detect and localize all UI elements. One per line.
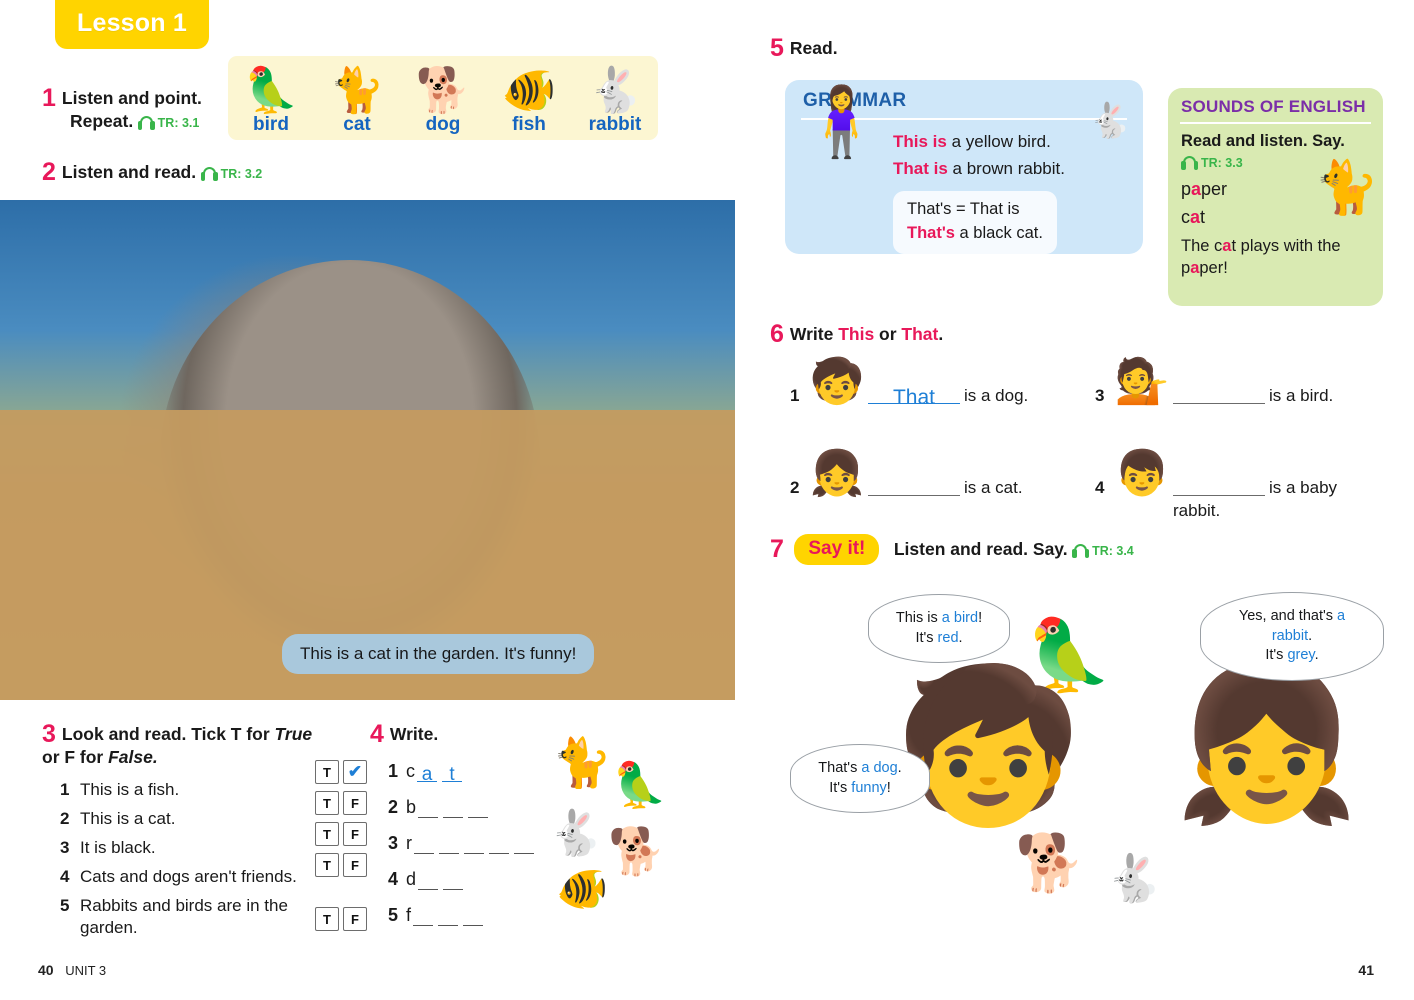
contraction-panel: That's = That is That's a black cat.	[893, 191, 1057, 254]
question-text: Cats and dogs aren't friends.	[80, 866, 297, 888]
audio-track-tag-2[interactable]: TR: 3.2	[201, 167, 263, 181]
answer-blank[interactable]: t	[442, 764, 462, 782]
vocab-word: fish	[512, 114, 546, 136]
vocab-word: rabbit	[589, 114, 642, 136]
answer-blank[interactable]	[1173, 476, 1265, 496]
unit-label: UNIT 3	[65, 963, 106, 978]
answer-blank[interactable]: a	[417, 764, 437, 782]
page-number: 40	[38, 962, 54, 978]
grey-rabbit-icon: 🐇	[1105, 855, 1162, 901]
vocab-word: dog	[426, 114, 461, 136]
audio-track-tag-3[interactable]: TR: 3.3	[1181, 156, 1243, 170]
photo-caption-bubble: This is a cat in the garden. It's funny!	[282, 634, 594, 674]
list-item[interactable]: 2 b	[388, 797, 560, 818]
grammar-body: This is a yellow bird. That is a brown r…	[785, 130, 1143, 254]
track-label: TR: 3.2	[221, 167, 263, 181]
exercise-3: 3Look and read. Tick T for True or F for…	[42, 722, 322, 946]
exercise-3-heading: Look and read. Tick T for True or F for …	[42, 724, 312, 767]
sounds-subtitle: Read and listen. Say.	[1168, 132, 1383, 151]
word-start-letter: f	[406, 905, 411, 926]
false-checkbox[interactable]: ✔	[343, 760, 367, 784]
false-checkbox[interactable]: F	[343, 791, 367, 815]
exercise-4-heading: Write.	[390, 724, 438, 744]
tf-row: T F	[315, 907, 367, 931]
vocab-word: bird	[253, 114, 289, 136]
boy-pointing-dog-icon: 🧒	[806, 360, 868, 404]
track-label: TR: 3.1	[158, 116, 200, 130]
girl-pointing-bird-icon: 💁	[1111, 360, 1173, 404]
list-item: 2This is a cat.	[60, 808, 322, 830]
cat-icon: 🐈	[330, 55, 385, 113]
exercise-7-heading-row: 7 Say it! Listen and read. Say. TR: 3.4	[770, 534, 1134, 565]
true-checkbox[interactable]: T	[315, 791, 339, 815]
cat-icon: 🐈	[552, 740, 612, 788]
dog-icon: 🐕	[416, 55, 471, 113]
sounds-sentence: The cat plays with the paper!	[1168, 235, 1359, 280]
grammar-line-1: This is a yellow bird.	[893, 130, 1085, 155]
vocab-item[interactable]: 🐇 rabbit	[575, 55, 655, 140]
exercise-6-item-4: 4 👦 is a baby rabbit.	[1095, 452, 1350, 523]
answer-blank[interactable]	[439, 836, 459, 854]
exercise-6-number: 6	[770, 322, 784, 347]
vocab-item[interactable]: 🐈 cat	[317, 55, 397, 140]
vocabulary-strip: 🦜 bird 🐈 cat 🐕 dog 🐠 fish 🐇 rabbit	[228, 56, 658, 140]
answer-blank[interactable]: That	[868, 384, 960, 404]
exercise-2-heading: Listen and read.	[62, 162, 196, 182]
parrot-icon: 🦜	[244, 55, 299, 113]
true-checkbox[interactable]: T	[315, 822, 339, 846]
true-checkbox[interactable]: T	[315, 907, 339, 931]
answer-blank[interactable]	[418, 800, 438, 818]
sounds-of-english-box: SOUNDS OF ENGLISH Read and listen. Say. …	[1168, 88, 1383, 306]
footer-left: 40 UNIT 3	[38, 962, 106, 978]
grammar-box: GRAMMAR 🧍‍♀️ 🐇 This is a yellow bird. Th…	[785, 80, 1143, 254]
headphones-icon	[1181, 156, 1198, 170]
list-item[interactable]: 3 r	[388, 833, 560, 854]
word-start-letter: b	[406, 797, 416, 818]
vocab-item[interactable]: 🦜 bird	[231, 55, 311, 140]
question-text: This is a cat.	[80, 808, 175, 830]
kitten-photo	[0, 200, 735, 700]
audio-track-tag-4[interactable]: TR: 3.4	[1072, 544, 1134, 558]
answer-blank[interactable]	[438, 908, 458, 926]
question-text: Rabbits and birds are in the garden.	[80, 895, 295, 939]
list-item[interactable]: 5 f	[388, 905, 560, 926]
answer-blank[interactable]	[464, 836, 484, 854]
lesson-badge: Lesson 1	[55, 0, 209, 49]
word-start-letter: r	[406, 833, 412, 854]
girl-holding-cat-icon: 👧	[806, 452, 868, 496]
contraction-rule: That's = That is	[907, 198, 1043, 222]
headphones-icon	[138, 116, 155, 130]
list-item[interactable]: 1 c a t	[388, 761, 560, 782]
rabbit-icon: 🐇	[548, 812, 603, 856]
rabbit-icon: 🐇	[588, 55, 643, 113]
exercise-2: 2Listen and read. TR: 3.2	[42, 160, 262, 185]
list-item: 1This is a fish.	[60, 779, 322, 801]
exercise-7-scene: 🦜 🧒 👧 🐕 🐇	[840, 640, 1380, 970]
exercise-4-number: 4	[370, 722, 384, 747]
answer-blank[interactable]	[463, 908, 483, 926]
answer-blank[interactable]	[468, 800, 488, 818]
contraction-example: That's a black cat.	[907, 222, 1043, 246]
answer-sentence: Thatis a dog.	[868, 360, 1028, 408]
exercise-3-question-list: 1This is a fish. 2This is a cat. 3It is …	[60, 779, 322, 940]
parrot-icon: 🦜	[612, 764, 667, 808]
word-start-letter: c	[406, 761, 415, 782]
false-checkbox[interactable]: F	[343, 853, 367, 877]
exercise-5-number: 5	[770, 36, 784, 61]
exercise-1: 1Listen and point. Repeat. TR: 3.1	[42, 86, 222, 133]
answer-sentence: is a baby rabbit.	[1173, 452, 1350, 523]
boy-holding-rabbit-icon: 👦	[1111, 452, 1173, 496]
true-false-answer-column: T ✔ T F T F T F T F	[315, 760, 367, 938]
answer-blank[interactable]	[868, 476, 960, 496]
pug-icon: 🐕	[1015, 835, 1085, 891]
vocab-item[interactable]: 🐠 fish	[489, 55, 569, 140]
exercise-6-heading-row: 6Write This or That.	[770, 322, 943, 347]
track-label: TR: 3.3	[1201, 156, 1243, 170]
vocab-item[interactable]: 🐕 dog	[403, 55, 483, 140]
answer-blank[interactable]	[413, 908, 433, 926]
exercise-4-list: 1 c a t 2 b 3 r 4 d 5 f	[388, 761, 560, 926]
playful-cat-icon: 🐈	[1314, 162, 1379, 214]
exercise-2-number: 2	[42, 160, 56, 185]
true-checkbox[interactable]: T	[315, 853, 339, 877]
answer-blank[interactable]	[489, 836, 509, 854]
audio-track-tag-1[interactable]: TR: 3.1	[138, 116, 200, 130]
true-checkbox[interactable]: T	[315, 760, 339, 784]
boy-character-icon: 🧒	[895, 670, 1082, 820]
vocab-word: cat	[343, 114, 370, 136]
exercise-1-number: 1	[42, 86, 56, 111]
false-checkbox[interactable]: F	[343, 822, 367, 846]
fishbowl-icon: 🐠	[502, 55, 557, 113]
exercise-1-line2: Repeat.	[70, 111, 133, 131]
sounds-title: SOUNDS OF ENGLISH	[1168, 88, 1383, 122]
check-icon: ✔	[348, 763, 362, 780]
answer-blank[interactable]	[1173, 384, 1265, 404]
exercise-6-heading: Write This or That.	[790, 324, 943, 344]
bubble-rabbit: Yes, and that's a rabbit. It's grey.	[1200, 592, 1384, 681]
question-text: This is a fish.	[80, 779, 179, 801]
track-label: TR: 3.4	[1092, 544, 1134, 558]
answer-sentence: is a bird.	[1173, 360, 1333, 408]
exercise-5-heading: Read.	[790, 38, 838, 58]
list-item: 4Cats and dogs aren't friends.	[60, 866, 322, 888]
fishbowl-icon: 🐠	[556, 868, 608, 910]
answer-sentence: is a cat.	[868, 452, 1023, 500]
false-checkbox[interactable]: F	[343, 907, 367, 931]
dog-icon: 🐕	[608, 828, 665, 874]
exercise-4-picture-cluster: 🐈 🦜 🐇 🐕 🐠	[540, 740, 710, 920]
say-it-badge: Say it!	[794, 534, 879, 565]
word-start-letter: d	[406, 869, 416, 890]
list-item: 5Rabbits and birds are in the garden.	[60, 895, 322, 939]
list-item[interactable]: 4 d	[388, 869, 560, 890]
tf-row: T F	[315, 853, 367, 877]
answer-blank[interactable]	[443, 872, 463, 890]
left-page: Lesson 1 🦜 bird 🐈 cat 🐕 dog 🐠 fish 🐇 rab…	[0, 0, 740, 1000]
exercise-6-item-1: 1 🧒 Thatis a dog.	[790, 360, 1028, 408]
exercise-6-item-2: 2 👧 is a cat.	[790, 452, 1023, 500]
list-item: 3It is black.	[60, 837, 322, 859]
girl-character-icon: 👧	[1173, 668, 1360, 818]
divider	[1180, 122, 1371, 124]
bubble-dog: That's a dog. It's funny!	[790, 744, 930, 813]
tf-row: T F	[315, 822, 367, 846]
exercise-6-item-3: 3 💁 is a bird.	[1095, 360, 1333, 408]
exercise-5: 5Read.	[770, 36, 838, 61]
answer-blank[interactable]	[443, 800, 463, 818]
answer-blank[interactable]	[414, 836, 434, 854]
answer-blank[interactable]	[514, 836, 534, 854]
exercise-4: 4Write. 1 c a t 2 b 3 r 4 d	[370, 722, 560, 941]
headphones-icon	[201, 167, 218, 181]
bubble-bird: This is a bird! It's red.	[868, 594, 1010, 663]
tf-row: T F	[315, 791, 367, 815]
exercise-3-number: 3	[42, 722, 56, 747]
grammar-line-2: That is a brown rabbit.	[893, 157, 1085, 182]
tf-row: T ✔	[315, 760, 367, 784]
answer-blank[interactable]	[418, 872, 438, 890]
exercise-7-heading: Listen and read. Say.	[894, 539, 1068, 559]
exercise-1-line1: Listen and point.	[62, 88, 202, 108]
headphones-icon	[1072, 544, 1089, 558]
exercise-7-number: 7	[770, 537, 784, 562]
question-text: It is black.	[80, 837, 156, 859]
